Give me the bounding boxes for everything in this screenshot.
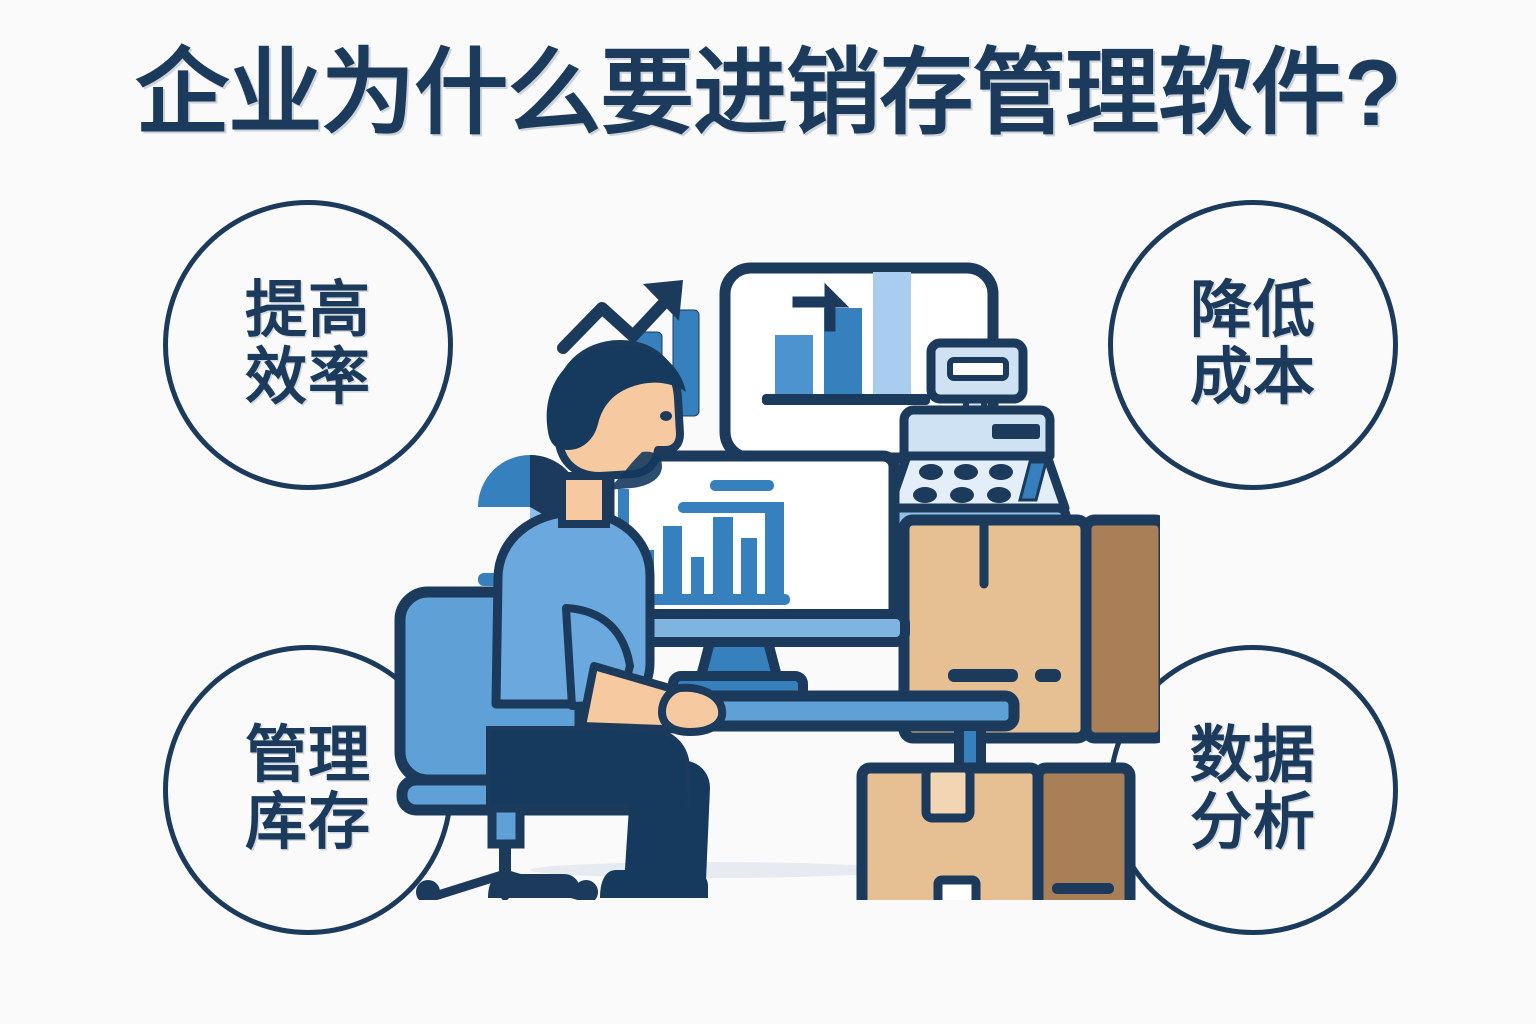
- box-flap: [926, 768, 970, 818]
- badge-line-2: 库存: [245, 790, 371, 857]
- badge-line-2: 分析: [1190, 790, 1316, 857]
- dashboard-bar: [741, 538, 757, 597]
- dashboard-bar: [713, 517, 733, 597]
- badge-line-2: 成本: [1190, 345, 1316, 412]
- person-hand: [662, 688, 722, 732]
- person-eye: [660, 411, 672, 421]
- box-label-dash: [1035, 669, 1061, 682]
- register-key: [954, 464, 978, 480]
- register-key: [913, 487, 937, 503]
- person-shoe: [600, 870, 708, 898]
- bubble-bar-1: [775, 335, 813, 397]
- box-side-label-bar: [1052, 883, 1114, 894]
- person-shoe: [488, 874, 580, 898]
- badge-line-2: 效率: [245, 345, 371, 412]
- box-label-square: [938, 880, 976, 900]
- page-title: 企业为什么要进销存管理软件?: [0, 44, 1536, 143]
- badge-line-1: 管理: [245, 723, 371, 790]
- register-display-strip: [992, 424, 1040, 439]
- dashboard-bar: [765, 502, 784, 597]
- large-package-box: [862, 768, 1130, 900]
- badge-line-1: 提高: [245, 278, 371, 345]
- central-illustration: [380, 180, 1160, 900]
- box-label-bar: [948, 669, 1018, 682]
- register-key: [950, 487, 974, 503]
- bubble-baseline: [762, 394, 930, 405]
- dashboard-text-line: [710, 480, 774, 491]
- dashboard-bar: [663, 526, 682, 597]
- dashboard-bar: [691, 557, 704, 597]
- person-neck: [562, 476, 606, 524]
- dashboard-text-line: [678, 502, 774, 513]
- chair-caster: [416, 880, 440, 900]
- register-key: [987, 487, 1011, 503]
- badge-line-1: 降低: [1190, 278, 1316, 345]
- register-key: [919, 464, 943, 480]
- bubble-bar-3: [873, 272, 911, 397]
- infographic-canvas: 企业为什么要进销存管理软件? 提高 效率 降低 成本 管理 库存 数据 分析: [0, 0, 1536, 1024]
- floor-shadow: [530, 862, 890, 878]
- badge-line-1: 数据: [1190, 723, 1316, 790]
- register-key: [989, 464, 1013, 480]
